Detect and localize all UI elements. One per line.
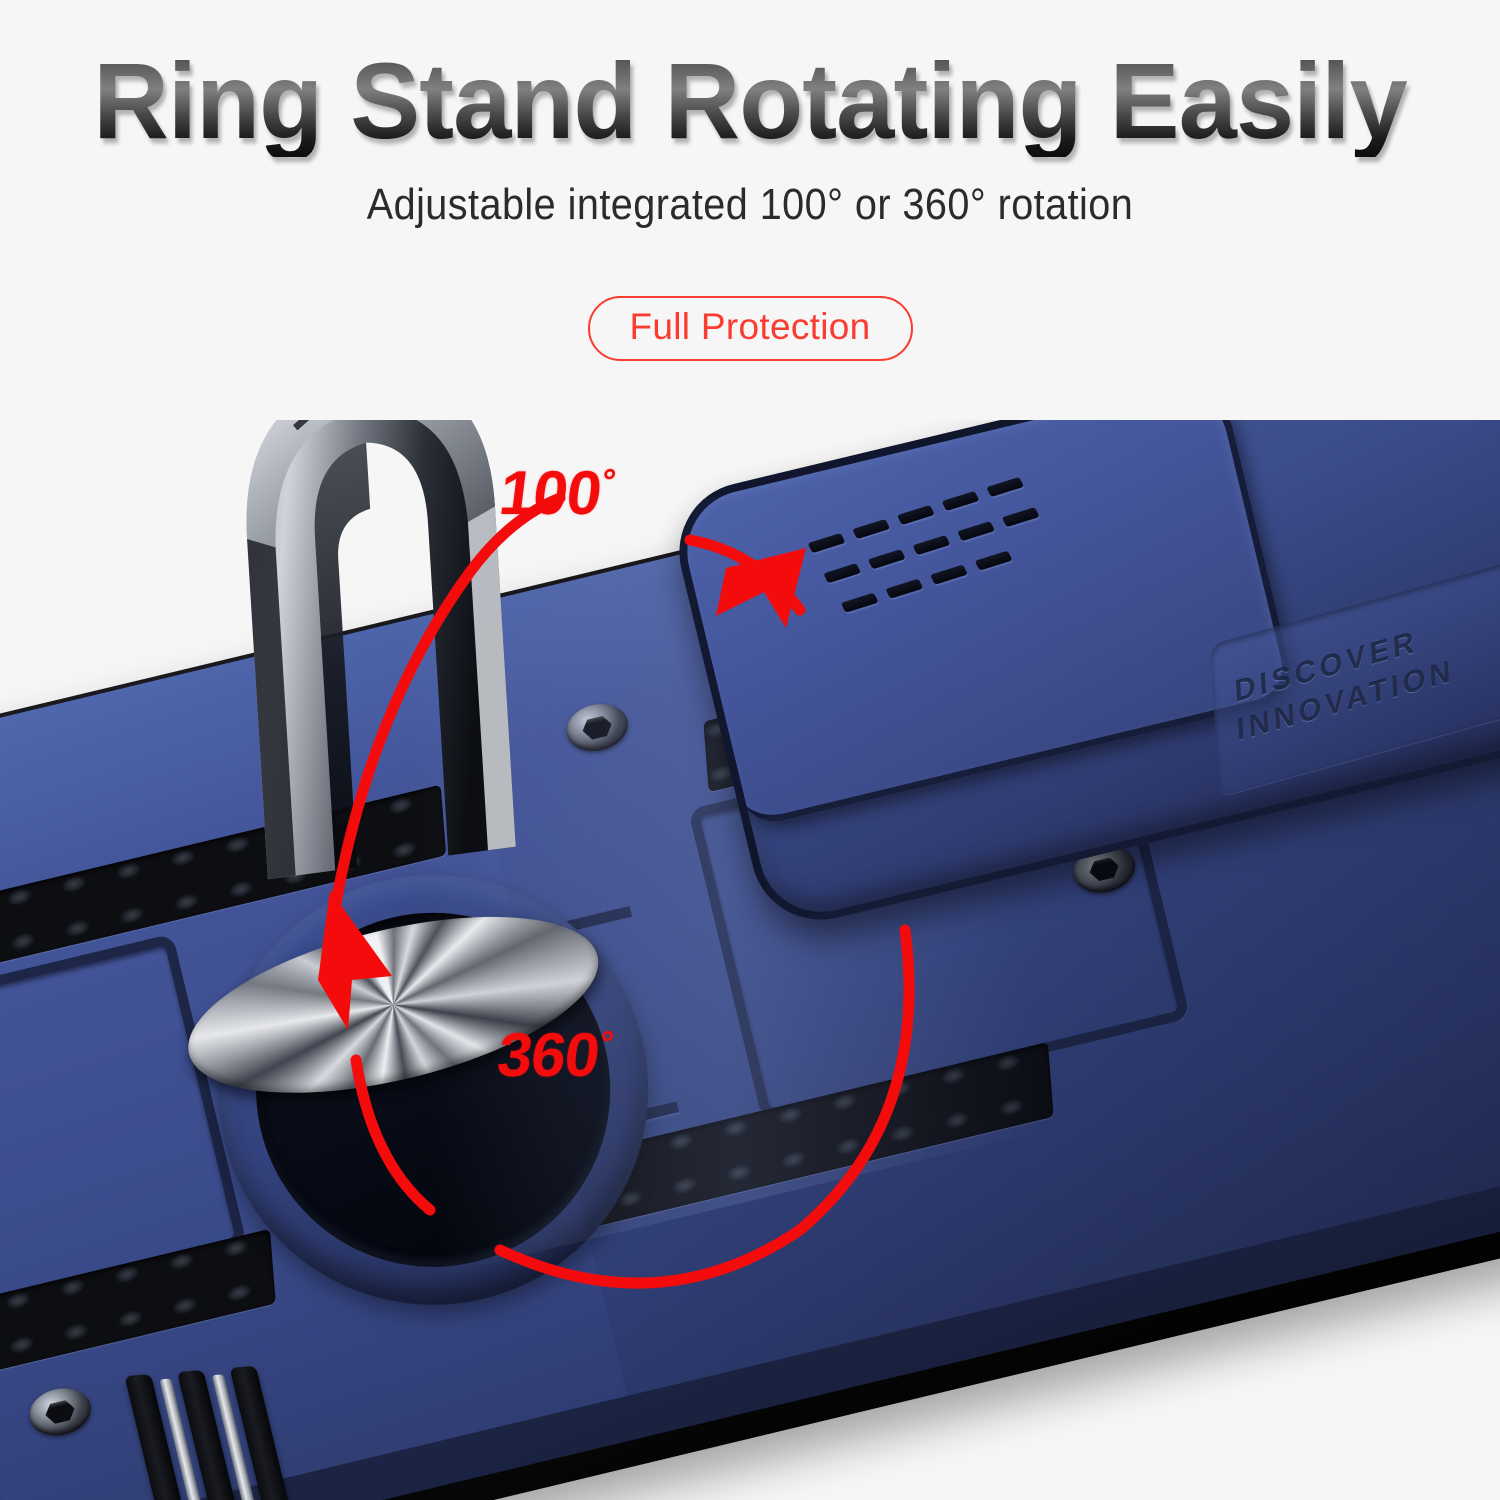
product-marketing-banner: Ring Stand Rotating Easily Adjustable in… [0,0,1500,1500]
product-photo: DISCOVER INNOVATION [0,420,1500,1500]
hex-screw-icon [562,698,633,757]
hex-screw-icon [0,1480,4,1500]
status-badge: Full Protection [588,296,913,361]
camera-slider-cover [667,420,1297,830]
ring-stand [195,420,556,904]
slider-grip-pattern [810,466,1060,664]
badge-container: Full Protection [0,296,1500,361]
page-title: Ring Stand Rotating Easily [23,44,1478,157]
phone-case-assembly: DISCOVER INNOVATION [0,420,1500,1500]
camera-cover-text: DISCOVER INNOVATION [1233,613,1455,749]
side-buttons [125,1359,379,1500]
hex-screw-icon [25,1382,96,1441]
degree-symbol-icon: ° [600,462,617,500]
page-subtitle: Adjustable integrated 100° or 360° rotat… [75,180,1425,230]
